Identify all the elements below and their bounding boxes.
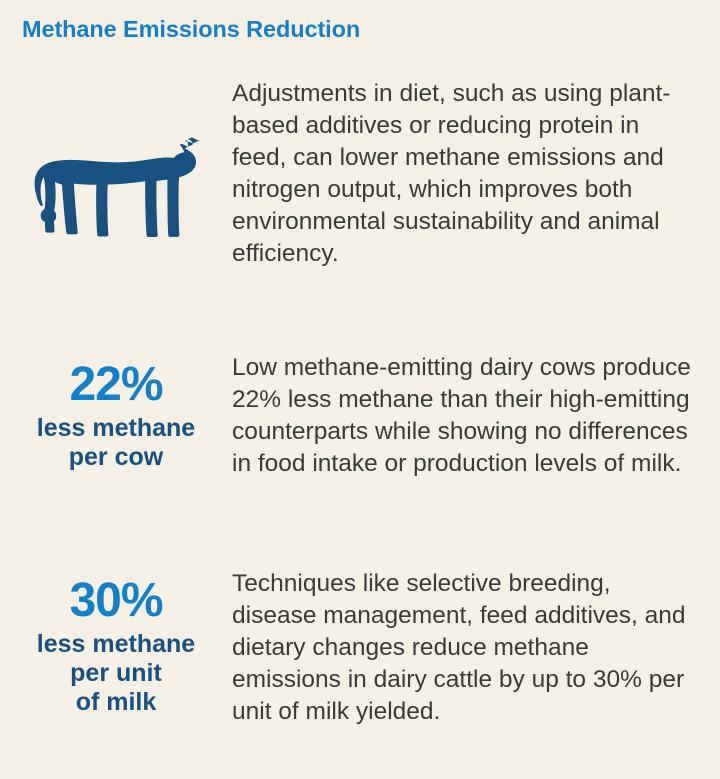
cow-icon (16, 122, 216, 247)
section-less-methane-per-cow: 22% less methane per cow Low methane-emi… (0, 352, 720, 480)
stat-number: 22% (37, 360, 195, 410)
page-title: Methane Emissions Reduction (22, 16, 360, 43)
stat-label: less methane per cow (37, 414, 195, 472)
stat-block: 22% less methane per cow (37, 360, 195, 472)
stat-label: less methane per unit of milk (37, 630, 195, 716)
section-body-text: Adjustments in diet, such as using plant… (232, 78, 698, 271)
section-diet-adjustments: Adjustments in diet, such as using plant… (0, 78, 720, 271)
stat-block: 30% less methane per unit of milk (37, 576, 195, 717)
section-text-column: Techniques like selective breeding, dise… (232, 568, 720, 728)
section-body-text: Low methane-emitting dairy cows produce … (232, 352, 698, 480)
section-visual-column (0, 78, 232, 247)
infographic-panel: Methane Emissions Reduction Adjustments … (0, 0, 720, 779)
stat-number: 30% (37, 576, 195, 626)
section-stat-column: 30% less methane per unit of milk (0, 568, 232, 717)
section-text-column: Low methane-emitting dairy cows produce … (232, 352, 720, 480)
section-text-column: Adjustments in diet, such as using plant… (232, 78, 720, 271)
section-body-text: Techniques like selective breeding, dise… (232, 568, 698, 728)
section-stat-column: 22% less methane per cow (0, 352, 232, 472)
section-less-methane-per-unit-milk: 30% less methane per unit of milk Techni… (0, 568, 720, 728)
